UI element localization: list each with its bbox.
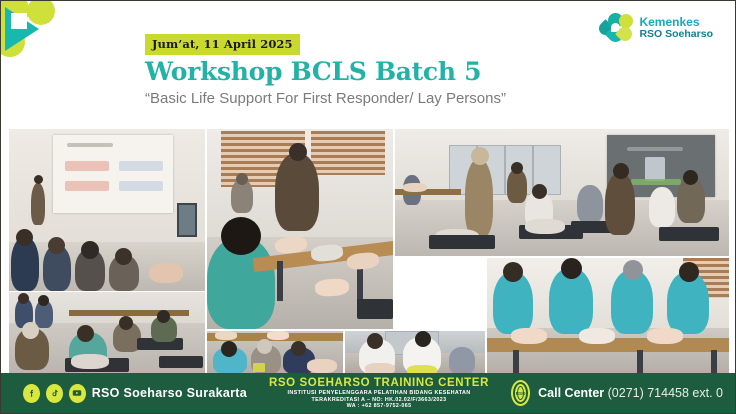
- footer-brand-label: RSO Soeharso Surakarta: [92, 386, 247, 400]
- date-badge: Jum’at, 11 April 2025: [145, 34, 300, 55]
- photo-image: [207, 331, 343, 374]
- training-center-title: RSO SOEHARSO TRAINING CENTER: [247, 377, 511, 391]
- call-center-text: Call Center (0271) 714458 ext. 0: [538, 386, 723, 400]
- footer-bar: RSO Soeharso Surakarta RSO SOEHARSO TRAI…: [1, 373, 736, 413]
- call-center-icon: RSO: [511, 380, 530, 406]
- kemenkes-logo-line1: Kemenkes: [639, 16, 713, 29]
- photo-classroom-projector-session: [9, 129, 205, 291]
- photo-image: [487, 258, 729, 374]
- footer-social-group: RSO Soeharso Surakarta: [1, 384, 247, 403]
- photo-image: [395, 129, 729, 256]
- photo-participants-manikin-compression: [345, 331, 485, 374]
- whatsapp-line: WA : +62 857-9752-065: [247, 403, 511, 409]
- youtube-icon[interactable]: [69, 384, 86, 403]
- photo-image: [9, 292, 205, 374]
- photo-image: [9, 129, 205, 291]
- photo-infant-cpr-practice: [207, 331, 343, 374]
- kemenkes-logo: Kemenkes RSO Soeharso: [599, 13, 713, 43]
- photo-image: [207, 129, 393, 329]
- facebook-icon[interactable]: [23, 384, 40, 403]
- photo-teal-coat-group-practice: [487, 258, 729, 374]
- call-center-number: (0271) 714458 ext. 0: [604, 386, 723, 400]
- photo-instructor-briefing-manikin-table: [207, 129, 393, 329]
- photo-cpr-practice-floor-group: [9, 292, 205, 374]
- header: Jum’at, 11 April 2025 Workshop BCLS Batc…: [1, 1, 736, 126]
- kemenkes-flower-icon: [599, 13, 633, 43]
- kemenkes-logo-text: Kemenkes RSO Soeharso: [639, 16, 713, 40]
- tiktok-icon[interactable]: [46, 384, 63, 403]
- footer-call-center[interactable]: RSO Call Center (0271) 714458 ext. 0: [511, 380, 736, 406]
- photo-lab-hall-demonstration: [395, 129, 729, 256]
- photo-collage: [1, 126, 736, 376]
- poster-canvas: Jum’at, 11 April 2025 Workshop BCLS Batc…: [0, 0, 736, 414]
- photo-image: [345, 331, 485, 374]
- page-subtitle: “Basic Life Support For First Responder/…: [145, 90, 506, 107]
- kemenkes-logo-line2: RSO Soeharso: [639, 29, 713, 40]
- decorative-corner-logo-icon: [1, 1, 59, 59]
- footer-center-block: RSO SOEHARSO TRAINING CENTER INSTITUSI P…: [247, 377, 511, 410]
- call-center-label: Call Center: [538, 386, 604, 400]
- page-title: Workshop BCLS Batch 5: [145, 57, 481, 86]
